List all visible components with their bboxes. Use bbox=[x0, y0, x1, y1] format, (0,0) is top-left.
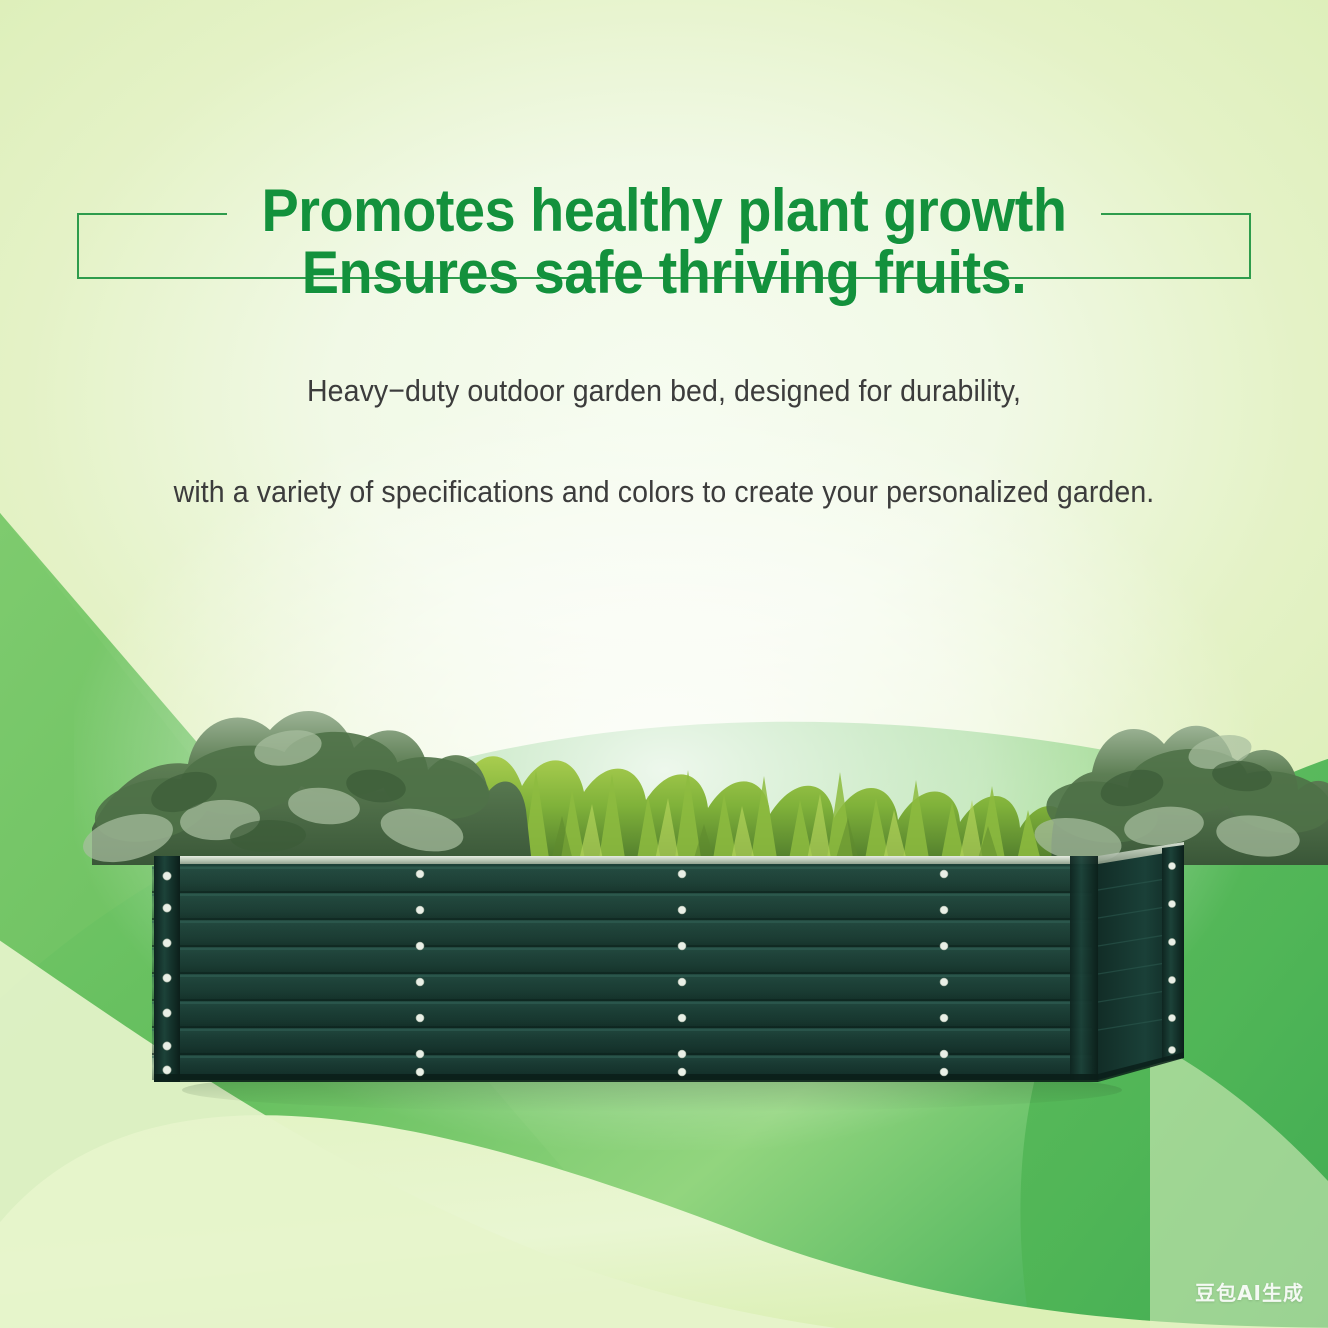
garden-bed-body bbox=[152, 842, 1184, 1112]
product-image-raised-garden-bed bbox=[92, 660, 1220, 1120]
description-line-2: with a variety of specifications and col… bbox=[174, 474, 1155, 509]
plant-foliage bbox=[78, 711, 1328, 870]
ai-watermark: 豆包AI生成 bbox=[1195, 1277, 1304, 1306]
headline-line-1: Promotes healthy plant growth bbox=[261, 177, 1066, 244]
description-line-1: Heavy−duty outdoor garden bed, designed … bbox=[307, 373, 1021, 408]
product-banner: Promotes healthy plant growth Ensures sa… bbox=[0, 0, 1328, 1328]
description-text: Heavy−duty outdoor garden bed, designed … bbox=[53, 316, 1275, 517]
headline-line-2: Ensures safe thriving fruits. bbox=[46, 242, 1281, 304]
